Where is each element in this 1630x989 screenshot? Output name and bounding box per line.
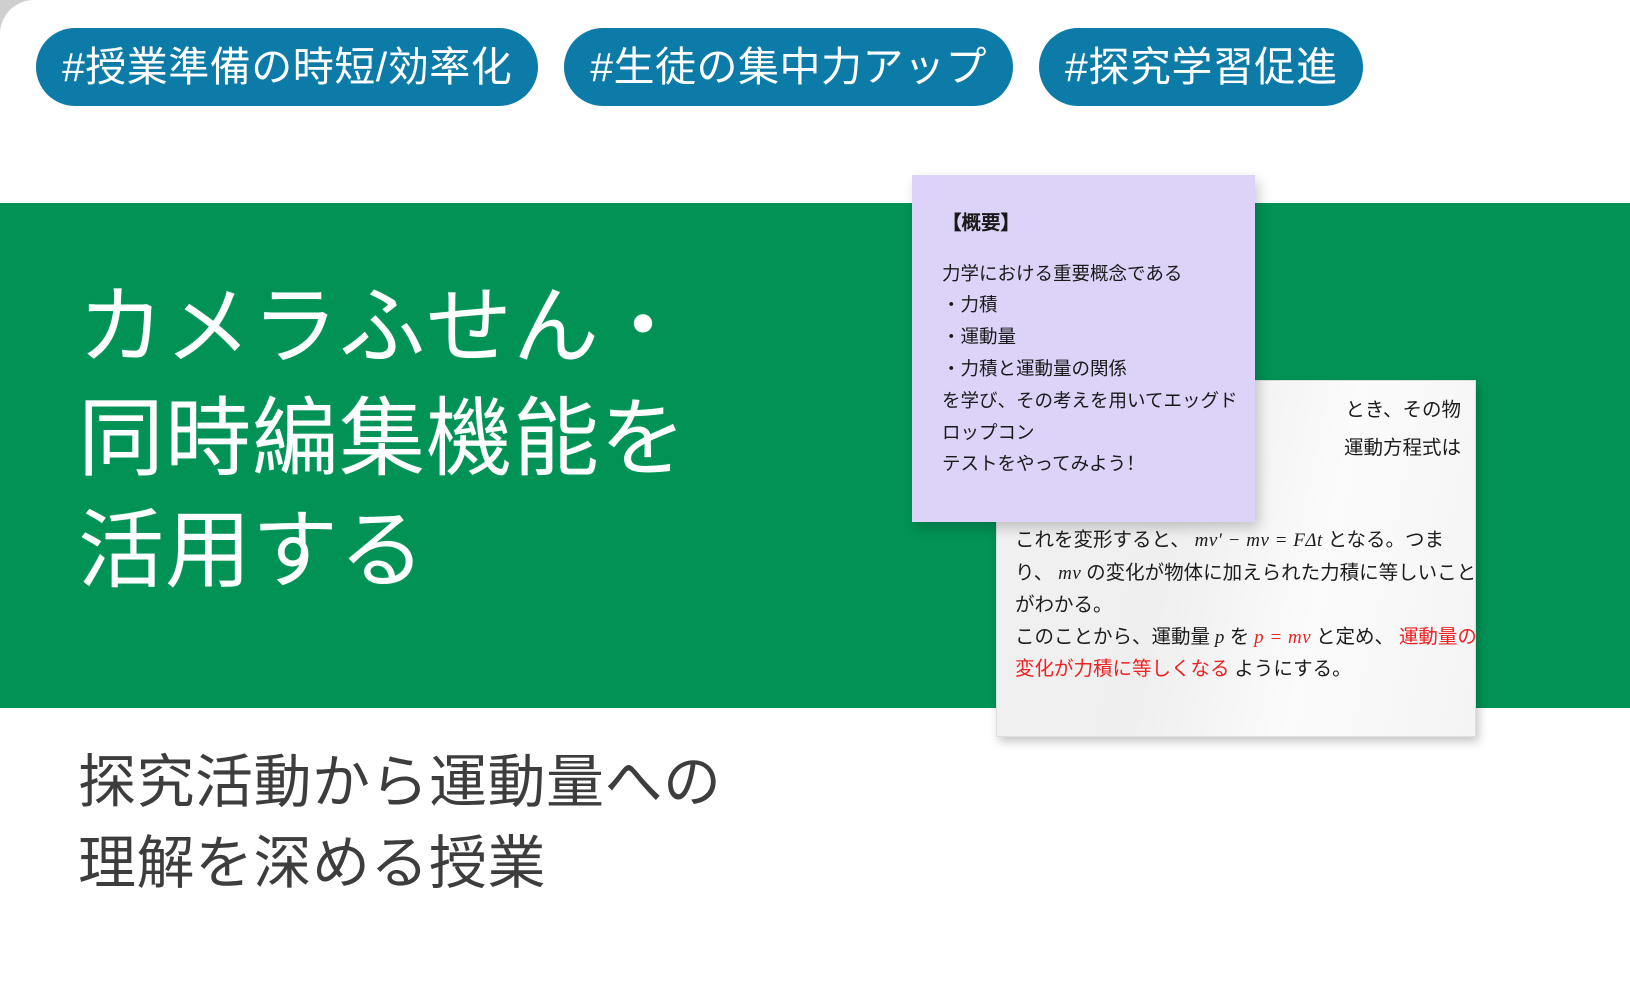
doc-line-3b: となる。つま	[1328, 530, 1444, 551]
doc-symbol-p: p	[1215, 627, 1225, 648]
doc-highlight-2: 変化が力積に等しくなる	[1015, 659, 1230, 680]
doc-formula-impulse: mv′ − mv = FΔt	[1195, 530, 1323, 551]
sticky-note-content: 【概要】 力学における重要概念である ・力積 ・運動量 ・力積と運動量の関係 を…	[942, 207, 1249, 480]
tag-label: #生徒の集中力アップ	[590, 47, 987, 88]
doc-line-6b: を	[1230, 627, 1250, 648]
tag-label: #授業準備の時短/効率化	[62, 47, 512, 88]
doc-line-2: 運動方程式は	[1344, 438, 1461, 459]
tag-label: #探究学習促進	[1065, 47, 1337, 88]
doc-formula-momentum: p = mv	[1254, 627, 1311, 648]
doc-highlight-1: 運動量の	[1399, 627, 1476, 648]
doc-line-1: とき、その物	[1345, 400, 1461, 421]
page-subtitle: 探究活動から運動量への 理解を深める授業	[78, 742, 722, 904]
sticky-note-overview[interactable]: 【概要】 力学における重要概念である ・力積 ・運動量 ・力積と運動量の関係 を…	[912, 175, 1255, 522]
doc-line-4a: り、	[1015, 563, 1053, 584]
sticky-note-title: 【概要】	[942, 207, 1249, 241]
doc-line-3a: これを変形すると、	[1015, 530, 1190, 551]
doc-formula-mv: mv	[1058, 563, 1081, 584]
screenshot-stage: #授業準備の時短/効率化 #生徒の集中力アップ #探究学習促進 カメラふせん・ …	[0, 0, 1630, 989]
tag-pill-efficiency[interactable]: #授業準備の時短/効率化	[36, 28, 538, 106]
sticky-note-body: 力学における重要概念である ・力積 ・運動量 ・力積と運動量の関係 を学び、その…	[942, 258, 1249, 481]
doc-line-7-tail: ようにする。	[1234, 659, 1351, 680]
tag-row: #授業準備の時短/効率化 #生徒の集中力アップ #探究学習促進	[36, 28, 1363, 106]
content-card: #授業準備の時短/効率化 #生徒の集中力アップ #探究学習促進 カメラふせん・ …	[0, 0, 1630, 989]
doc-line-4b: の変化が物体に加えられた力積に等しいこと	[1086, 563, 1476, 584]
doc-line-6a: このことから、運動量	[1015, 627, 1210, 648]
doc-line-6c: と定め、	[1316, 627, 1394, 648]
page-title: カメラふせん・ 同時編集機能を 活用する	[78, 272, 687, 607]
tag-pill-inquiry[interactable]: #探究学習促進	[1039, 28, 1363, 106]
tag-pill-focus[interactable]: #生徒の集中力アップ	[564, 28, 1013, 106]
doc-line-5: がわかる。	[1015, 595, 1113, 616]
